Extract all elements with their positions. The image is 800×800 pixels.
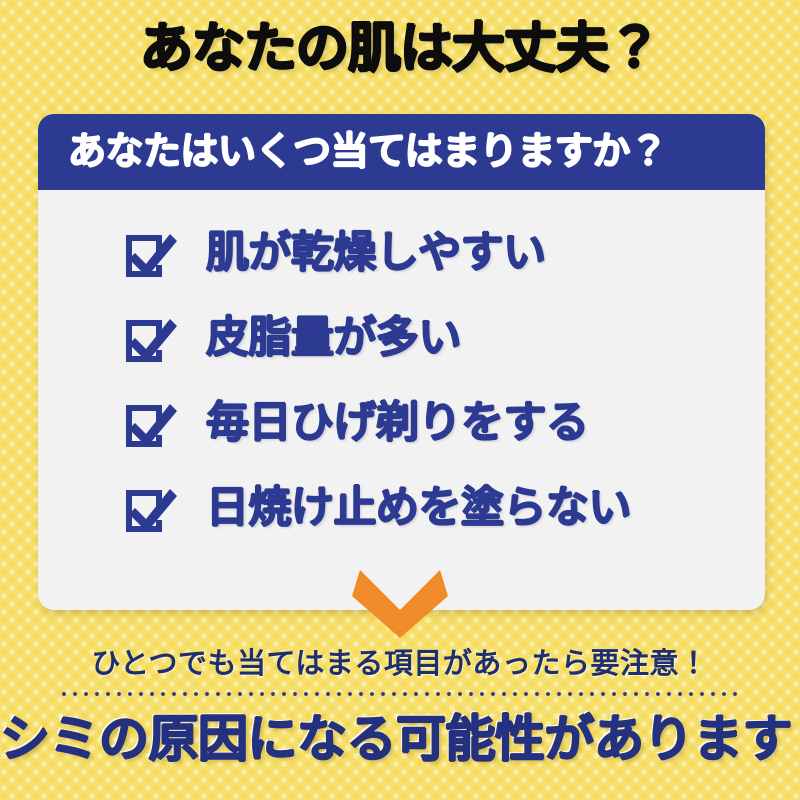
list-item-label: 皮脂量が多い xyxy=(206,313,461,363)
page-title: あなたの肌は大丈夫？ xyxy=(0,18,800,80)
checkbox-checked-icon[interactable] xyxy=(122,312,180,364)
chevron-down-icon xyxy=(352,566,448,638)
card-header-label: あなたはいくつ当てはまりますか？ xyxy=(68,130,667,174)
checkbox-checked-icon[interactable] xyxy=(122,397,180,449)
checklist: 肌が乾燥しやすい 皮脂量が多い 毎日ひげ剃りをする xyxy=(38,190,765,550)
list-item-label: 毎日ひげ剃りをする xyxy=(206,398,589,448)
conclusion-text: シミの原因になる可能性があります！ xyxy=(0,708,800,770)
dotted-divider xyxy=(62,692,738,696)
checkbox-checked-icon[interactable] xyxy=(122,482,180,534)
caution-text: ひとつでも当てはまる項目があったら要注意！ xyxy=(0,646,800,682)
list-item-label: 日焼け止めを塗らない xyxy=(206,483,631,533)
checklist-card: あなたはいくつ当てはまりますか？ 肌が乾燥しやすい 皮脂量が多い xyxy=(38,114,765,610)
poster-root: あなたの肌は大丈夫？ あなたはいくつ当てはまりますか？ 肌が乾燥しやすい 皮脂量… xyxy=(0,0,800,800)
list-item-label: 肌が乾燥しやすい xyxy=(206,228,546,278)
list-item[interactable]: 皮脂量が多い xyxy=(38,295,765,380)
list-item[interactable]: 日焼け止めを塗らない xyxy=(38,465,765,550)
list-item[interactable]: 毎日ひげ剃りをする xyxy=(38,380,765,465)
list-item[interactable]: 肌が乾燥しやすい xyxy=(38,210,765,295)
card-header: あなたはいくつ当てはまりますか？ xyxy=(38,114,765,190)
checkbox-checked-icon[interactable] xyxy=(122,227,180,279)
